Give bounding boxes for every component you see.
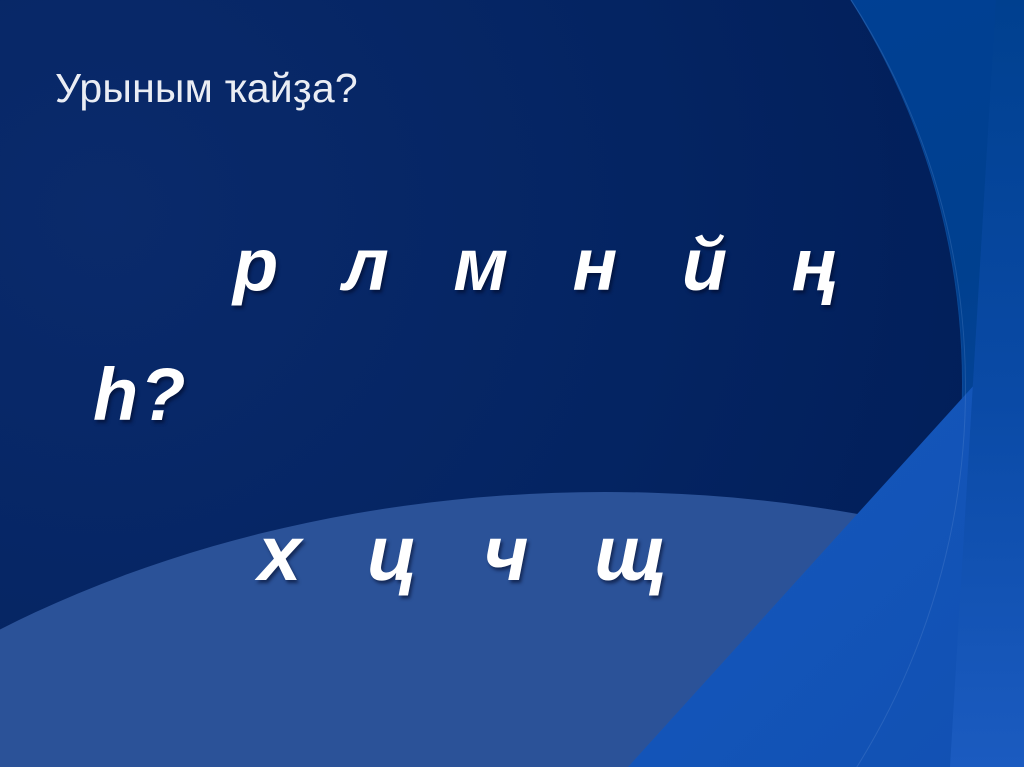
slide-title: Урыным ҡайҙа? <box>55 66 358 111</box>
letter-row-3: х ц ч щ <box>258 508 689 599</box>
presentation-slide: Урыным ҡайҙа? р л м н й ң һ? х ц ч щ <box>0 0 1024 767</box>
slide-content: Урыным ҡайҙа? р л м н й ң һ? х ц ч щ <box>0 0 1024 767</box>
letter-row-2: һ? <box>93 352 187 437</box>
letter-row-1: р л м н й ң <box>233 222 858 307</box>
